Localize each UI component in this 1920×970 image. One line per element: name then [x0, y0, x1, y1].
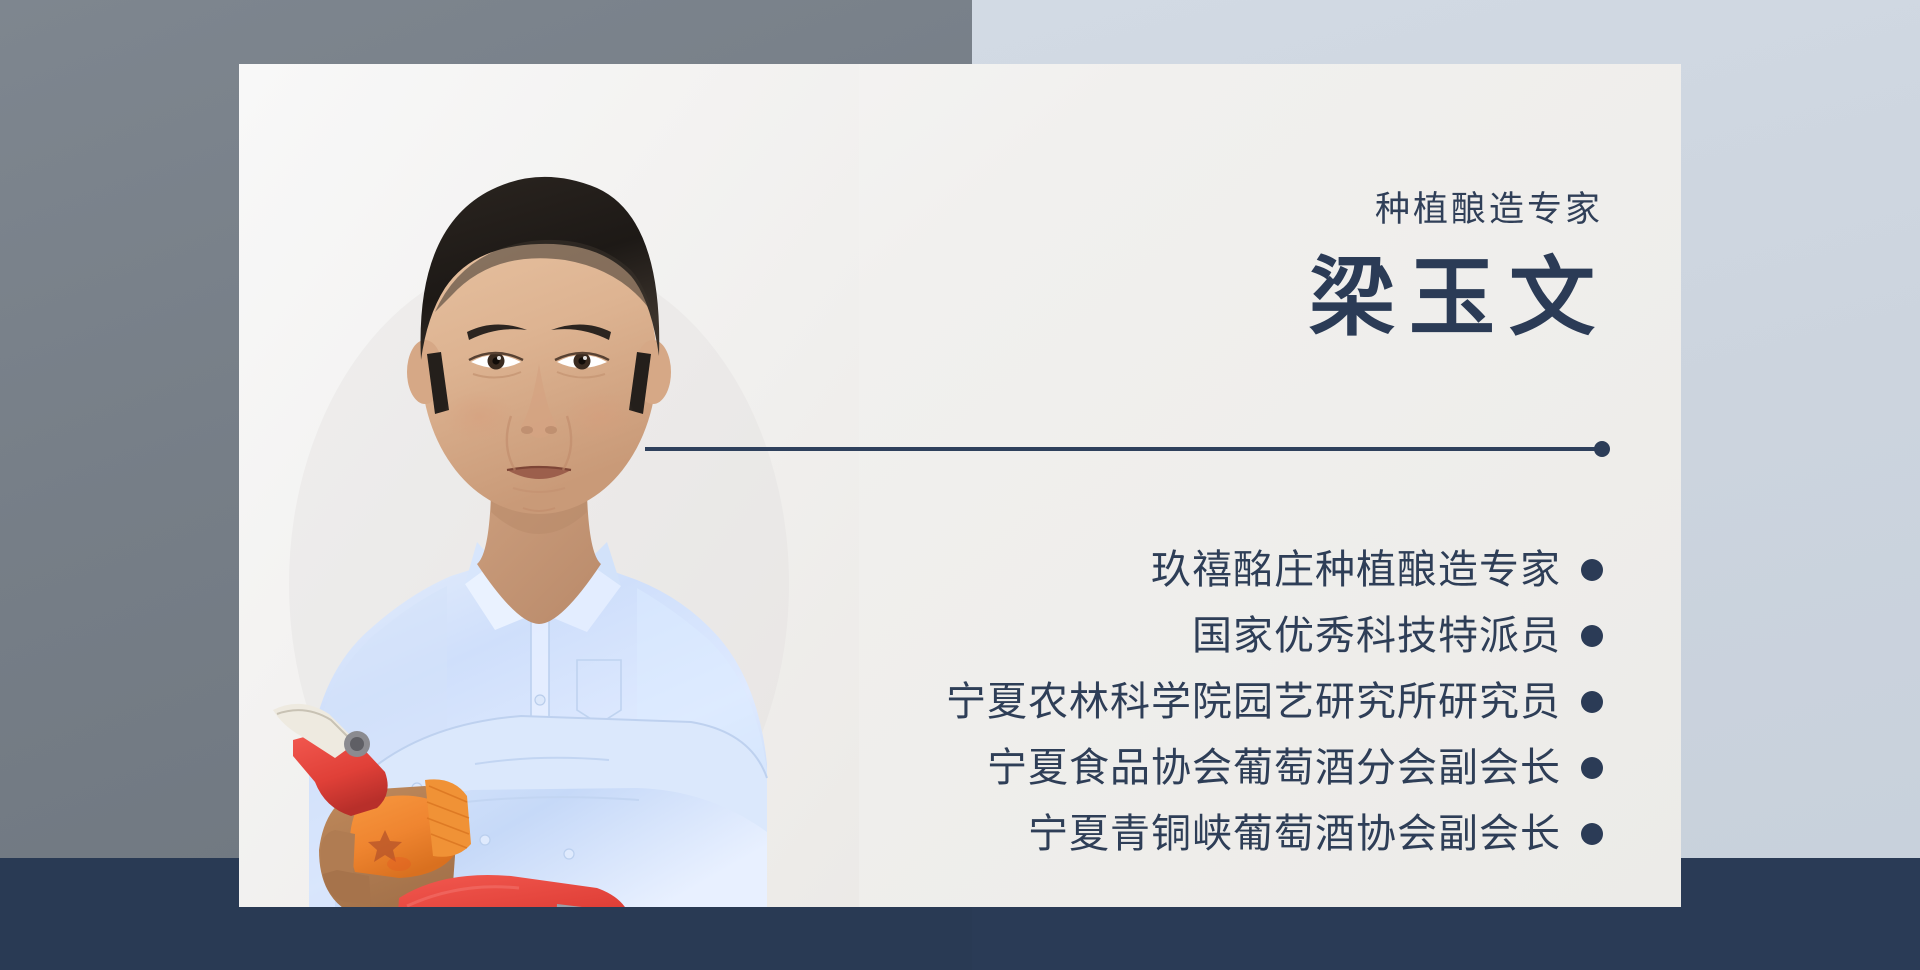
credential-label: 宁夏农林科学院园艺研究所研究员 [946, 675, 1561, 729]
bullet-dot-icon [1581, 559, 1603, 581]
bullet-dot-icon [1581, 757, 1603, 779]
profile-card: 种植酿造专家 梁玉文 玖禧酩庄种植酿造专家 国家优秀科技特派员 宁夏农林科学院园… [239, 64, 1681, 907]
credential-label: 宁夏青铜峡葡萄酒协会副会长 [1028, 807, 1561, 861]
credential-label: 国家优秀科技特派员 [1192, 609, 1561, 663]
bullet-dot-icon [1581, 625, 1603, 647]
header-divider-line [645, 447, 1609, 451]
list-item: 国家优秀科技特派员 [903, 609, 1603, 663]
list-item: 玖禧酩庄种植酿造专家 [903, 543, 1603, 597]
credentials-list: 玖禧酩庄种植酿造专家 国家优秀科技特派员 宁夏农林科学院园艺研究所研究员 宁夏食… [903, 543, 1603, 873]
credential-label: 玖禧酩庄种植酿造专家 [1151, 543, 1561, 597]
bullet-dot-icon [1581, 823, 1603, 845]
expert-portrait-photo [239, 64, 859, 907]
page-title: 梁玉文 [909, 246, 1609, 350]
list-item: 宁夏青铜峡葡萄酒协会副会长 [903, 807, 1603, 861]
bullet-dot-icon [1581, 691, 1603, 713]
list-item: 宁夏农林科学院园艺研究所研究员 [903, 675, 1603, 729]
role-title: 种植酿造专家 [903, 188, 1603, 232]
list-item: 宁夏食品协会葡萄酒分会副会长 [903, 741, 1603, 795]
credential-label: 宁夏食品协会葡萄酒分会副会长 [987, 741, 1561, 795]
divider-end-dot-icon [1594, 441, 1610, 457]
